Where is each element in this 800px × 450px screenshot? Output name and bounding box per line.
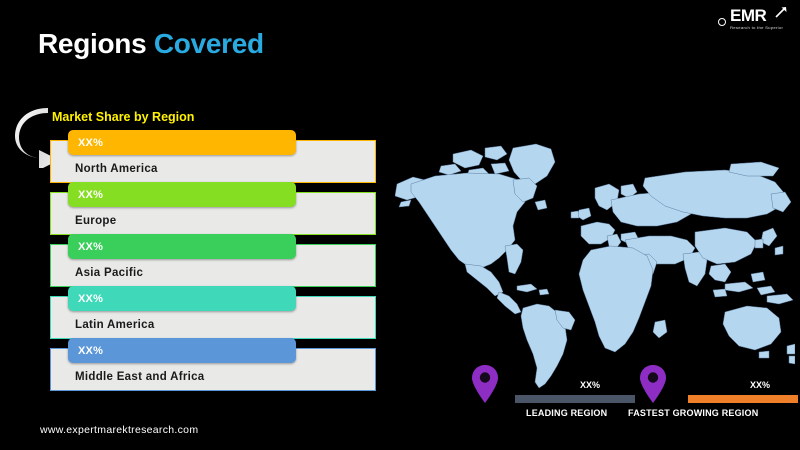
region-row[interactable]: XX%North America [50, 140, 376, 183]
region-row[interactable]: XX%Asia Pacific [50, 244, 376, 287]
page-title-accent: Covered [154, 28, 264, 59]
region-label: Asia Pacific [75, 267, 143, 279]
legend-fastest-bar [688, 395, 798, 403]
region-percent: XX% [68, 241, 103, 253]
region-percent: XX% [68, 137, 103, 149]
emr-logo: EMR Research to the Superior [716, 5, 790, 37]
legend-fastest-caption: FASTEST GROWING REGION [628, 408, 758, 418]
legend-leading-region: XX% LEADING REGION [470, 362, 630, 422]
region-share-bar: XX% [68, 286, 296, 311]
region-percent: XX% [68, 293, 103, 305]
region-label: Latin America [75, 319, 155, 331]
region-share-list: XX%North AmericaXX%EuropeXX%Asia Pacific… [50, 140, 376, 400]
map-pin-icon [638, 364, 668, 404]
slide-canvas: EMR Research to the Superior Regions Cov… [0, 0, 800, 450]
logo-tagline: Research to the Superior [730, 26, 783, 30]
region-label: North America [75, 163, 158, 175]
region-row[interactable]: XX%Latin America [50, 296, 376, 339]
region-share-bar: XX% [68, 182, 296, 207]
region-share-bar: XX% [68, 338, 296, 363]
legend-fastest-percent: XX% [750, 380, 770, 390]
region-label: Europe [75, 215, 116, 227]
region-percent: XX% [68, 189, 103, 201]
page-title-main: Regions [38, 28, 154, 59]
world-map [395, 140, 795, 390]
circle-icon [718, 18, 726, 26]
region-row[interactable]: XX%Europe [50, 192, 376, 235]
legend-leading-bar [515, 395, 635, 403]
map-pin-icon [470, 364, 500, 404]
region-share-bar: XX% [68, 130, 296, 155]
world-map-svg [395, 140, 795, 390]
footer-website[interactable]: www.expertmarektresearch.com [40, 424, 198, 436]
callout-label: Market Share by Region [52, 110, 194, 124]
legend-leading-caption: LEADING REGION [526, 408, 607, 418]
region-percent: XX% [68, 345, 103, 357]
legend-fastest-growing-region: XX% FASTEST GROWING REGION [630, 362, 800, 422]
growth-arrow-icon [774, 5, 788, 19]
region-label: Middle East and Africa [75, 371, 205, 383]
region-share-bar: XX% [68, 234, 296, 259]
page-title: Regions Covered [38, 28, 264, 60]
region-row[interactable]: XX%Middle East and Africa [50, 348, 376, 391]
legend-leading-percent: XX% [580, 380, 600, 390]
logo-wordmark: EMR [730, 7, 766, 24]
